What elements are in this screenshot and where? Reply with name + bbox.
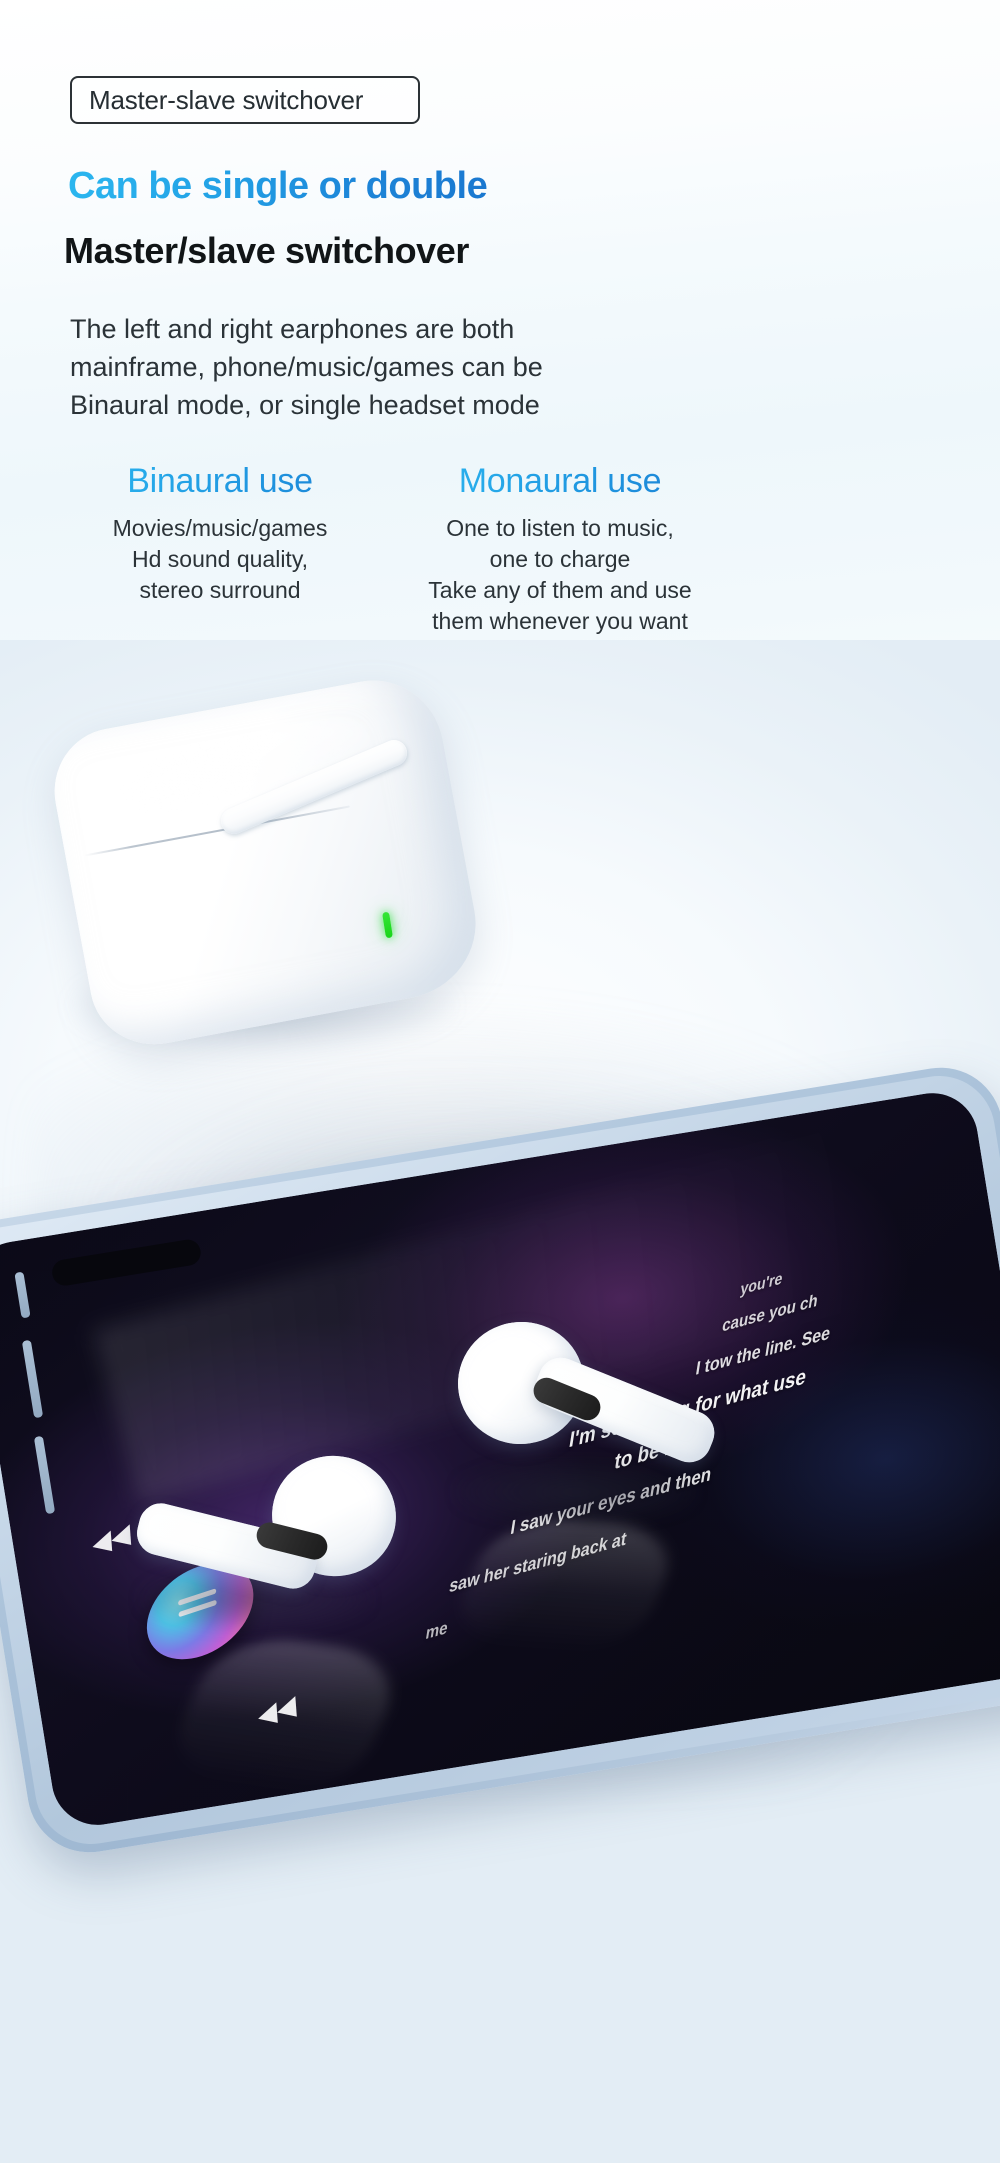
previous-track-icon[interactable]: ◀◀ [91, 1519, 131, 1558]
section-badge: Master-slave switchover [70, 76, 420, 124]
feature-description-line-2: mainframe, phone/music/games can be [70, 348, 690, 386]
usage-modes: Binaural use Movies/music/games Hd sound… [50, 462, 730, 637]
feature-description-line-1: The left and right earphones are both [70, 310, 690, 348]
usage-mode-binaural-title: Binaural use [50, 462, 390, 501]
usage-mode-binaural-body: Movies/music/games Hd sound quality, ste… [50, 513, 390, 606]
phone-notch [50, 1238, 202, 1288]
usage-mode-monaural-body: One to listen to music, one to charge Ta… [390, 513, 730, 637]
usage-mode-monaural-line-2: one to charge [390, 544, 730, 575]
product-detail-page: Master-slave switchover Can be single or… [0, 0, 1000, 2163]
usage-mode-monaural-line-1: One to listen to music, [390, 513, 730, 544]
usage-mode-monaural-title: Monaural use [390, 462, 730, 501]
usage-mode-binaural: Binaural use Movies/music/games Hd sound… [50, 462, 390, 637]
usage-mode-binaural-line-2: Hd sound quality, [50, 544, 390, 575]
usage-mode-monaural-line-3: Take any of them and use [390, 575, 730, 606]
right-earbud [436, 1320, 726, 1540]
feature-description-line-3: Binaural mode, or single headset mode [70, 386, 690, 424]
section-badge-label: Master-slave switchover [89, 85, 363, 116]
right-earbud-stem [529, 1351, 721, 1469]
usage-mode-binaural-line-3: stereo surround [50, 575, 390, 606]
left-earbud [130, 1450, 390, 1640]
usage-mode-monaural: Monaural use One to listen to music, one… [390, 462, 730, 637]
product-photo: ◀◀ ◀◀ you're cause you ch I tow the line… [0, 640, 1000, 2163]
charging-case [62, 680, 482, 1060]
lyric-line-8: me [424, 1619, 449, 1645]
feature-description: The left and right earphones are both ma… [70, 310, 690, 424]
usage-mode-binaural-line-1: Movies/music/games [50, 513, 390, 544]
right-earbud-shadow [456, 1460, 696, 1524]
usage-mode-monaural-line-4: them whenever you want [390, 606, 730, 637]
headline-primary: Can be single or double [68, 165, 487, 208]
headline-secondary: Master/slave switchover [64, 230, 469, 272]
